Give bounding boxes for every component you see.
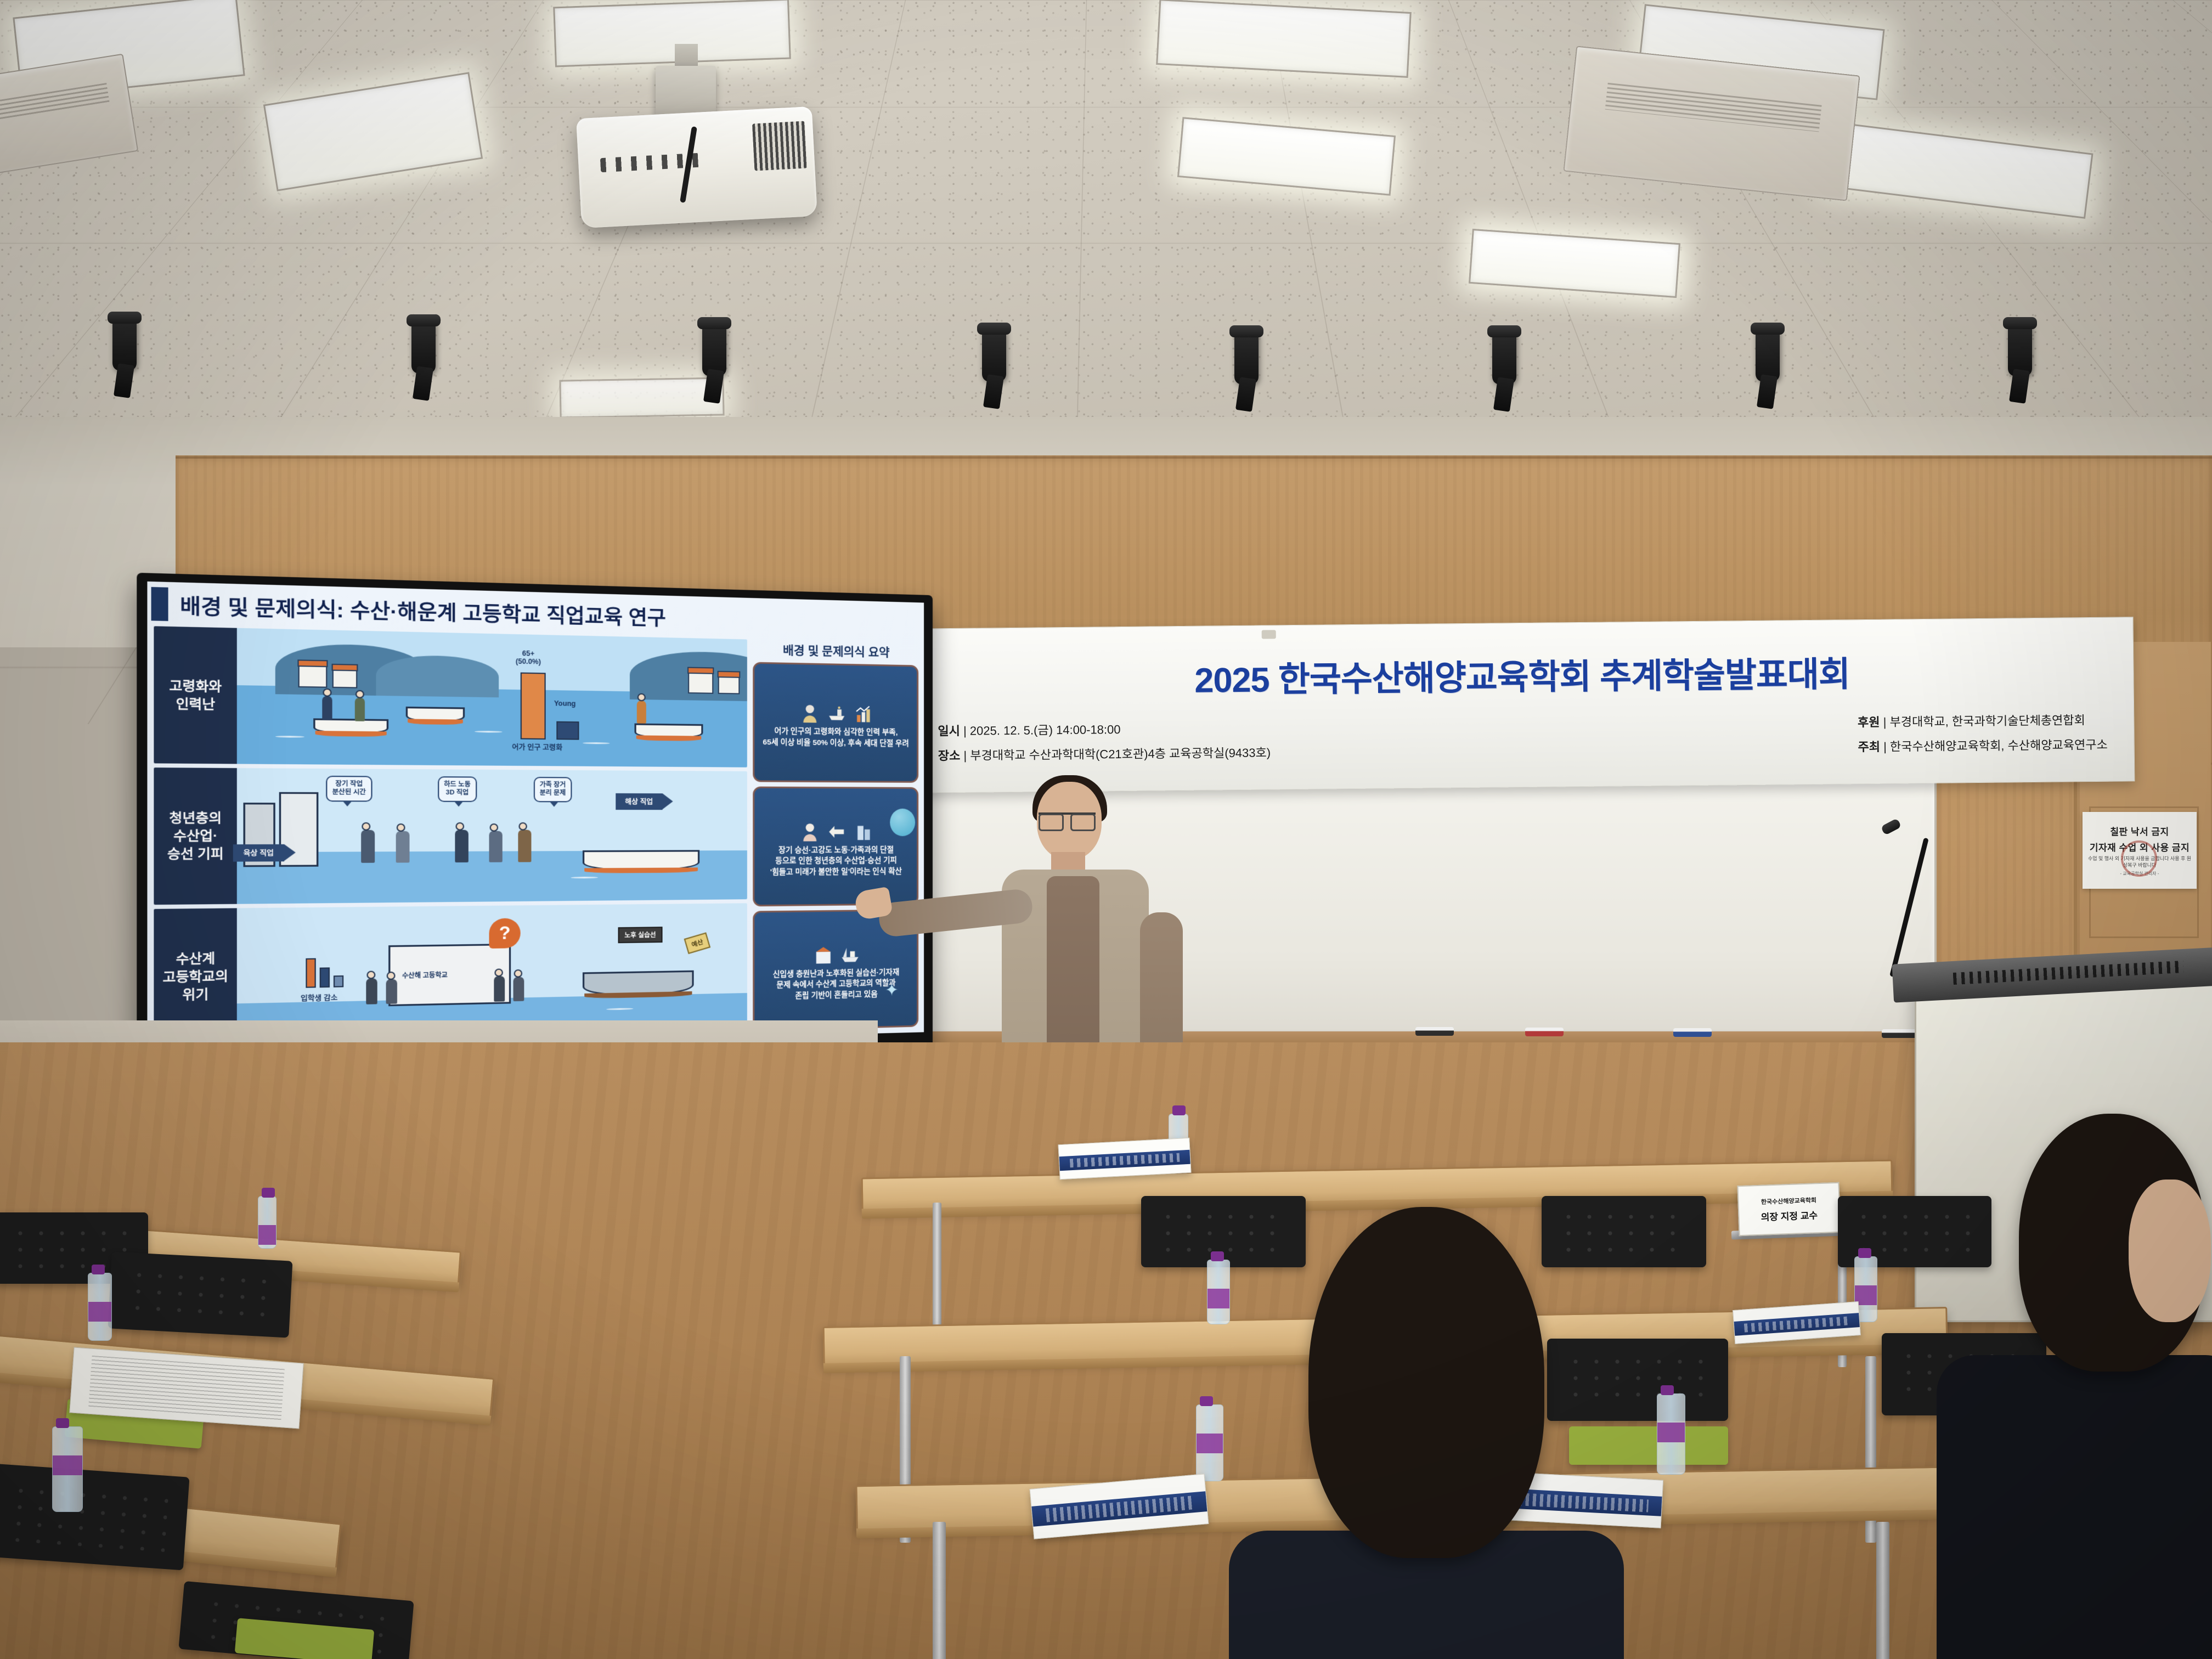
projector-vent (752, 121, 807, 171)
wave-line (275, 736, 304, 738)
booklet-cover-band (1059, 1150, 1190, 1171)
water-bottle[interactable] (1207, 1260, 1230, 1324)
ceiling-speaker (1756, 329, 1780, 382)
slide-row-illustration: 장기 작업 분산된 시간 하드 노동 3D 직업 가족 장거 분리 문제 육상 … (237, 768, 747, 904)
fishing-boat (406, 707, 465, 723)
student-head (514, 969, 522, 978)
fisher-figure (322, 696, 332, 720)
banner-row-venue: 장소 | 부경대학교 수산과학대학(C21호관)4층 교육공학실(9433호) (938, 743, 1271, 764)
house-shape (688, 672, 713, 694)
question-mark-icon: ? (489, 918, 520, 949)
wood-seam (176, 456, 2212, 459)
marker-black[interactable] (1415, 1027, 1454, 1036)
summary-card-text: 장기 승선·고강도 노동·가족과의 단절 등으로 인한 청년층의 수산업·승선 … (770, 844, 902, 878)
fisher-head (637, 693, 646, 702)
bottle-label (88, 1302, 111, 1322)
fisher-figure (355, 698, 365, 721)
bottle-cap (1211, 1251, 1224, 1261)
issue-bubble: 장기 작업 분산된 시간 (326, 776, 372, 802)
young-person-icon (800, 822, 819, 842)
summary-card-text: 신입생 충원난과 노후화된 실습선·기자재 문제 속에서 수산계 고등학교의 역… (773, 967, 900, 1002)
ceiling-speaker (1234, 332, 1259, 385)
elderly-person-icon (800, 704, 819, 723)
roof-shape (331, 664, 358, 672)
audience-member-face (2129, 1180, 2211, 1322)
bottle-label (1207, 1289, 1229, 1308)
bar-enroll-b (320, 967, 330, 988)
bottle-cap (262, 1188, 275, 1198)
summary-card-aging: 어가 인구의 고령화와 심각한 인력 부족, 65세 이상 비율 50% 이상,… (753, 662, 919, 783)
marker-blue[interactable] (1673, 1028, 1712, 1037)
old-ship-sign: 노후 실습선 (618, 927, 663, 943)
ceiling-speaker (1492, 332, 1516, 385)
conference-banner: 2025 한국수산해양교육학회 추계학술발표대회 일시 | 2025. 12. … (910, 617, 2135, 793)
bar-chart-caption: 어가 인구 고령화 (512, 742, 562, 753)
marker-red[interactable] (1525, 1028, 1564, 1036)
slide-row-avoidance: 청년층의 수산업· 승선 기피 장기 작업 분산된 시간 하드 노동 3D 직업… (154, 768, 747, 905)
chair-left[interactable] (108, 1251, 293, 1338)
slide-row-illustration: 65+ (50.0%) Young 어가 인구 고령화 (237, 628, 747, 768)
nameplate-org: 한국수산해양교육학회 (1761, 1195, 1817, 1206)
banner-row-datetime: 일시 | 2025. 12. 5.(금) 14:00-18:00 (938, 718, 1271, 739)
summary-icons (800, 697, 872, 724)
audience-member-body (1937, 1355, 2212, 1659)
slide-row-label: 청년층의 수산업· 승선 기피 (154, 768, 236, 905)
bottle-cap (1661, 1385, 1674, 1395)
summary-card-avoidance: 장기 승선·고강도 노동·가족과의 단절 등으로 인한 청년층의 수산업·승선 … (753, 787, 919, 907)
chair-nameplate: 한국수산해양교육학회 의장 지정 교수 (1737, 1182, 1841, 1236)
youth-figure (361, 830, 375, 863)
budget-tag: 예산 (684, 932, 711, 954)
youth-figure (455, 830, 468, 862)
water-bottle[interactable] (52, 1426, 83, 1512)
slide-title-accent-bar (151, 587, 168, 621)
roof-shape (687, 667, 714, 674)
school-building-icon (814, 945, 833, 964)
conference-booklet[interactable] (1058, 1138, 1191, 1180)
student-figure (494, 976, 505, 1002)
banner-sep: | (1883, 740, 1887, 754)
banner-right-column: 후원 | 부경대학교, 한국과학기술단체총연합회 주최 | 한국수산해양교육학회… (1858, 710, 2108, 755)
summary-icons (814, 939, 859, 965)
fishing-boat-icon (827, 704, 847, 724)
classroom-photo-scene: 칠판 낙서 금지 기자재 수업 외 사용 금지 수업 및 행사 외 기자재 사용… (0, 0, 2212, 1659)
youth-figure (518, 830, 531, 862)
banner-value-venue: 부경대학교 수산과학대학(C21호관)4층 교육공학실(9433호) (970, 746, 1271, 762)
fishing-boat (313, 718, 388, 734)
land-job-tag: 육상 직업 (233, 844, 284, 862)
house-shape (718, 676, 740, 694)
bottle-cap (1200, 1396, 1213, 1406)
ship-hull (584, 991, 692, 998)
enrollment-caption: 입학생 감소 (301, 992, 337, 1003)
ceiling-light-panel (1156, 0, 1412, 78)
slide-summary-column: 배경 및 문제의식 요약 어가 인구의 고령화와 심각한 인력 부족, 65세 … (753, 640, 919, 1031)
bottle-label (1657, 1423, 1685, 1442)
fisher-head (356, 690, 364, 698)
bar-elderly (521, 673, 546, 740)
banner-clip-icon (1262, 630, 1276, 639)
water-bottle[interactable] (258, 1196, 276, 1249)
notice-line-1: 칠판 낙서 금지 (2110, 824, 2169, 838)
bar-enroll-a (306, 958, 315, 988)
sparkle-icon: ✦ (885, 980, 899, 1000)
ceiling-speaker (2008, 324, 2032, 376)
student-figure (366, 978, 377, 1004)
water-bottle[interactable] (1196, 1404, 1223, 1481)
youth-head (455, 822, 464, 831)
water-bottle[interactable] (88, 1273, 112, 1341)
banner-value-sponsor: 부경대학교, 한국과학기술단체총연합회 (1889, 713, 2085, 729)
school-sign-text: 수산해 고등학교 (402, 970, 448, 980)
bottle-cap (92, 1265, 105, 1274)
slide-title: 배경 및 문제의식: 수산·해운계 고등학교 직업교육 연구 (180, 589, 666, 631)
youth-figure (396, 831, 410, 863)
banner-sep: | (963, 749, 967, 763)
ceiling-speaker (982, 329, 1006, 382)
student-figure (386, 979, 397, 1004)
roof-shape (297, 659, 328, 667)
touch-point-indicator (890, 809, 915, 836)
banner-label-venue: 장소 (938, 749, 961, 763)
desk-leg (1876, 1522, 1889, 1659)
bar-label-elderly: 65+ (50.0%) (516, 649, 541, 665)
youth-head (397, 823, 405, 832)
ceiling-speaker (411, 321, 436, 374)
banner-title: 2025 한국수산해양교육학회 추계학술발표대회 (929, 644, 2115, 706)
student-figure (513, 977, 524, 1002)
bottle-cap (1172, 1105, 1186, 1115)
boat-hull (636, 735, 702, 741)
ceiling-speaker (112, 318, 137, 371)
student-head (366, 970, 375, 979)
bottle-cap (56, 1418, 69, 1428)
slide-body: 고령화와 인력난 (147, 626, 924, 1052)
wave-line (606, 1008, 633, 1010)
banner-left-column: 일시 | 2025. 12. 5.(금) 14:00-18:00 장소 | 부경… (938, 718, 1271, 764)
notice-stamp-icon (2121, 840, 2157, 877)
wave-line (475, 731, 503, 733)
slide-content: 배경 및 문제의식: 수산·해운계 고등학교 직업교육 연구 고령화와 인력난 (147, 582, 924, 1052)
sea-job-tag: 해상 직업 (616, 793, 662, 810)
bar-enroll-c (334, 975, 343, 988)
fisher-figure (637, 701, 646, 724)
presenter-glasses (1039, 812, 1096, 827)
chair-left[interactable] (0, 1464, 189, 1571)
banner-label-sponsor: 후원 (1858, 715, 1880, 729)
youth-figure (489, 831, 502, 862)
presentation-display[interactable]: 배경 및 문제의식: 수산·해운계 고등학교 직업교육 연구 고령화와 인력난 (137, 573, 933, 1073)
slide-illustration-column: 고령화와 인력난 (154, 626, 747, 1046)
banner-label-datetime: 일시 (938, 724, 960, 738)
audience-member-head (1308, 1207, 1544, 1558)
desk-leg (933, 1522, 946, 1659)
banner-value-datetime: 2025. 12. 5.(금) 14:00-18:00 (970, 723, 1121, 738)
ceiling-light-panel (553, 0, 791, 67)
rusty-training-ship (583, 970, 694, 996)
cargo-ship (583, 850, 699, 871)
banner-row-host: 주최 | 한국수산해양교육학회, 수산해양교육연구소 (1858, 735, 2108, 755)
boat-hull (408, 719, 463, 725)
summary-title: 배경 및 문제의식 요약 (753, 641, 919, 661)
house-shape (332, 669, 358, 689)
youth-head (362, 822, 370, 831)
summary-icons (800, 815, 872, 841)
banner-sep: | (1883, 715, 1887, 729)
chair-seat-cushion[interactable] (1569, 1426, 1728, 1465)
slide-row-aging: 고령화와 인력난 (154, 626, 747, 767)
ceiling-projector (576, 106, 817, 228)
chair-back[interactable] (1542, 1196, 1706, 1267)
left-arrow-icon (827, 822, 847, 841)
rising-chart-icon (854, 704, 872, 724)
ceiling-light-panel (559, 377, 724, 418)
ship-hull (584, 867, 698, 873)
bottle-label (53, 1455, 82, 1475)
issue-bubble: 하드 노동 3D 직업 (438, 776, 477, 802)
wave-line (583, 742, 610, 744)
banner-row-sponsor: 후원 | 부경대학교, 한국과학기술단체총연합회 (1858, 710, 2108, 730)
hill-shape (376, 654, 499, 697)
fishing-boat (635, 724, 703, 739)
booklet-cover-band (1031, 1491, 1207, 1527)
boat-hull (315, 731, 387, 737)
bar-label-young: Young (554, 699, 576, 708)
door-notice-sign: 칠판 낙서 금지 기자재 수업 외 사용 금지 수업 및 행사 외 기자재 사용… (2083, 812, 2197, 889)
youth-head (518, 822, 527, 831)
house-shape (298, 665, 327, 688)
bottle-label (258, 1225, 276, 1245)
bar-young (556, 721, 579, 740)
youth-head (490, 823, 498, 832)
bottle-cap (1858, 1248, 1871, 1258)
water-bottle[interactable] (1657, 1393, 1685, 1475)
banner-detail-rows: 일시 | 2025. 12. 5.(금) 14:00-18:00 장소 | 부경… (930, 710, 2115, 764)
fisher-head (323, 689, 331, 697)
roof-shape (718, 671, 741, 678)
summary-card-text: 어가 인구의 고령화와 심각한 인력 부족, 65세 이상 비율 50% 이상,… (763, 726, 909, 749)
old-ship-icon (840, 945, 859, 964)
ceiling-speaker (702, 324, 726, 376)
wave-line (571, 877, 598, 878)
banner-sep: | (963, 724, 967, 738)
issue-bubble: 가족 장거 분리 문제 (534, 777, 572, 802)
banner-value-host: 한국수산해양교육학회, 수산해양교육연구소 (1890, 738, 2108, 754)
nameplate-role: 의장 지정 교수 (1760, 1207, 1818, 1223)
bottle-label (1197, 1434, 1223, 1453)
booklet-cover-band (1734, 1313, 1860, 1335)
chair-mid[interactable] (1547, 1339, 1728, 1421)
city-building-icon (854, 822, 872, 841)
banner-label-host: 주최 (1858, 740, 1880, 754)
slide-row-label: 고령화와 인력난 (154, 626, 236, 764)
